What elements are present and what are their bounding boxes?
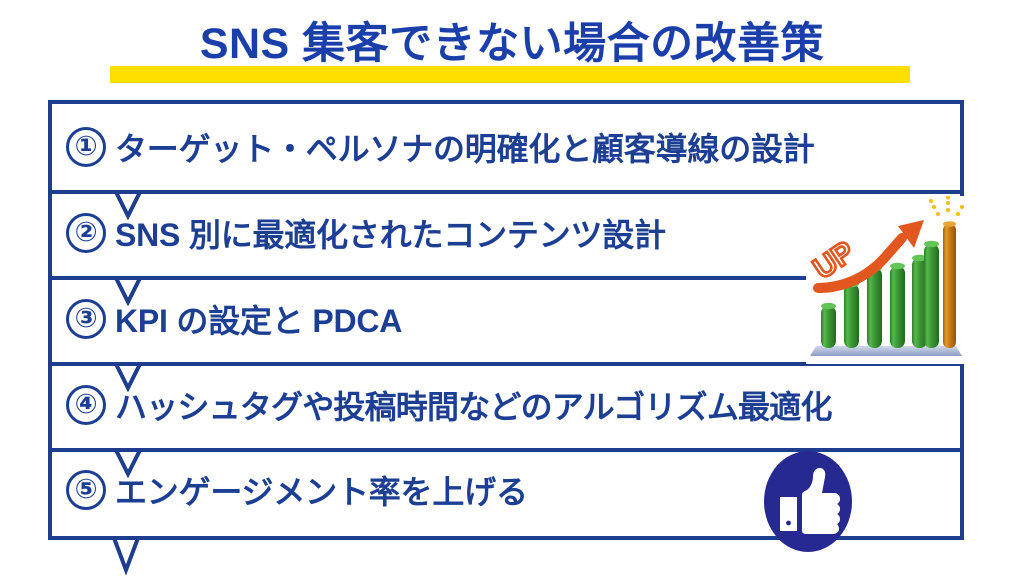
list-item-number: ① [66,127,106,167]
list-item-number: ③ [66,299,106,339]
list-item-number: ④ [66,385,106,425]
thumbs-up-icon [762,449,854,554]
list-item-number: ⑤ [66,470,106,510]
sparkle-icon [929,196,964,216]
list-item-number: ② [66,213,106,253]
chevron-down-icon-bottom [92,536,160,576]
growth-bar-chart-svg: UP [806,196,964,364]
list-item[interactable]: ④ ハッシュタグや投稿時間などのアルゴリズム最適化 [52,362,960,448]
page-title-block: SNS 集客できない場合の改善策 [0,14,1024,90]
page-title: SNS 集客できない場合の改善策 [0,14,1024,74]
thumbs-up-svg [762,449,854,554]
chart-bar-orange [943,221,956,348]
row-divider [52,190,960,194]
list-item[interactable]: ① ターゲット・ペルソナの明確化と顧客導線の設計 [52,104,960,190]
growth-bar-chart-icon: UP [806,196,964,364]
list-item-label: ハッシュタグや投稿時間などのアルゴリズム最適化 [115,382,952,428]
list-item-label: ターゲット・ペルソナの明確化と顧客導線の設計 [115,124,952,170]
